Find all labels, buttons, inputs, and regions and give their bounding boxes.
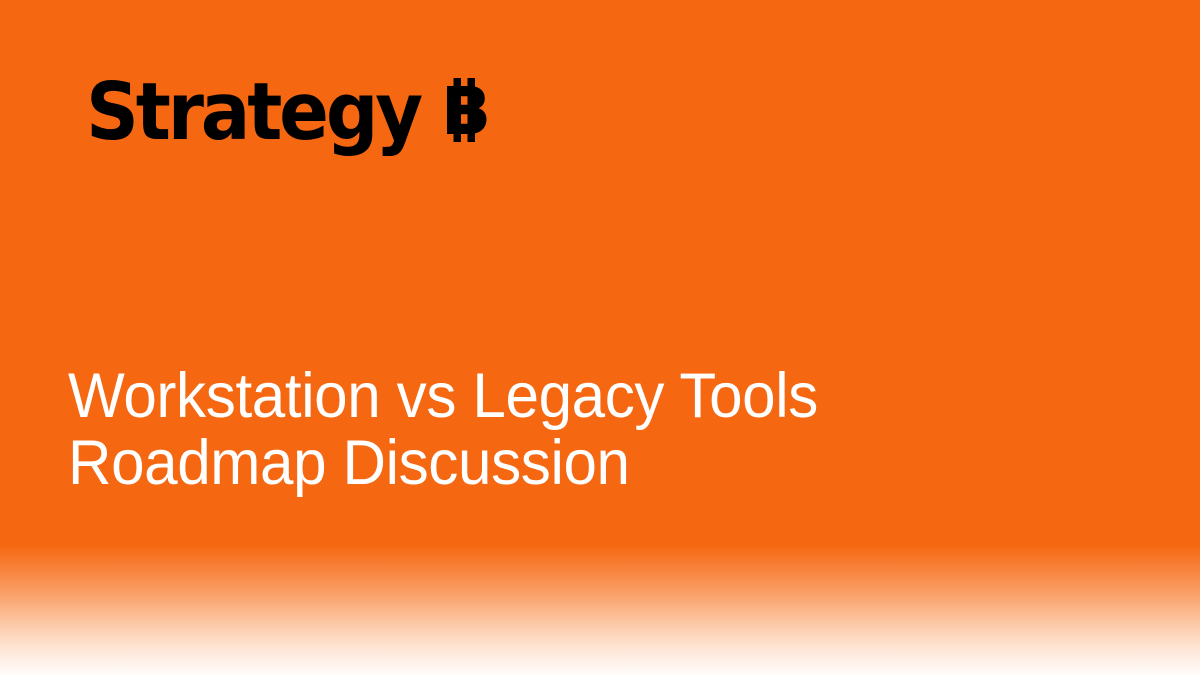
page-title: Workstation vs Legacy Tools Roadmap Disc… [68,363,1023,497]
logo-wordmark: Strategy [86,74,420,151]
bitcoin-icon [443,78,489,142]
bottom-gradient-overlay [0,545,1200,675]
title-slide: Strategy Workstation vs Legacy Tools Roa… [0,0,1200,675]
strategy-logo: Strategy [86,74,489,151]
